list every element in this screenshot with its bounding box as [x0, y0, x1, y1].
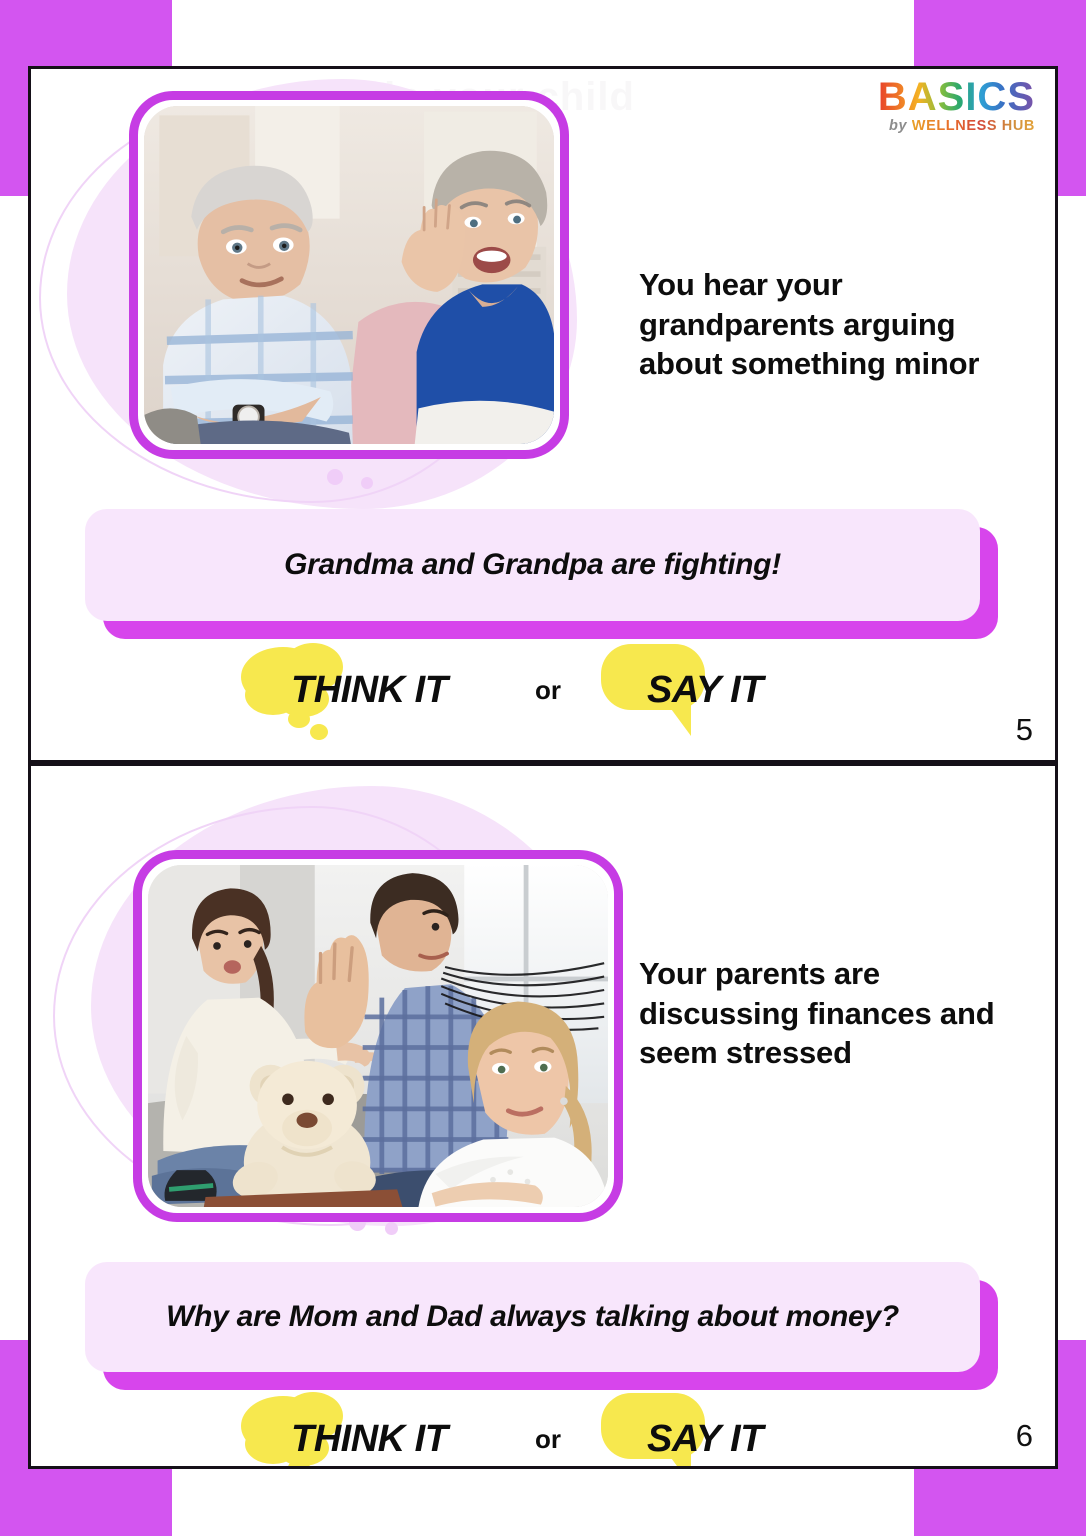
brand-tagline: by WELLNESS HUB	[878, 119, 1035, 134]
brand-logo: BASICS by WELLNESS HUB	[878, 77, 1035, 134]
say-it-option[interactable]: SAY IT	[599, 645, 829, 735]
or-label: or	[535, 1424, 561, 1455]
scenario-prompt: You hear your grandparents arguing about…	[639, 265, 1029, 384]
quote-container: Why are Mom and Dad always talking about…	[85, 1262, 980, 1372]
scenario-prompt: Your parents are discussing finances and…	[639, 954, 1034, 1073]
brand-hub: WELLNESS HUB	[912, 118, 1035, 134]
quote-box: Why are Mom and Dad always talking about…	[85, 1262, 980, 1372]
scenario-photo-frame	[133, 850, 623, 1222]
parents-arguing-with-child-photo	[148, 865, 608, 1207]
decor-dot-2	[361, 477, 373, 489]
quote-text: Why are Mom and Dad always talking about…	[166, 1300, 899, 1334]
choice-row: THINK IT or SAY IT	[239, 1394, 829, 1469]
worksheet-page: Help your child BASICS by WELLNESS HUB	[0, 0, 1086, 1536]
brand-name: BASICS	[878, 77, 1035, 117]
quote-box: Grandma and Grandpa are fighting!	[85, 509, 980, 621]
page-number: 5	[1016, 712, 1033, 748]
think-it-label: THINK IT	[291, 1418, 447, 1461]
scenario-card-6: Your parents are discussing finances and…	[28, 763, 1058, 1469]
quote-text: Grandma and Grandpa are fighting!	[284, 548, 781, 582]
think-it-option[interactable]: THINK IT	[239, 1394, 507, 1469]
say-it-label: SAY IT	[647, 1418, 763, 1461]
decor-dot-2	[385, 1222, 398, 1235]
page-number: 6	[1016, 1418, 1033, 1454]
scenario-card-5: Help your child BASICS by WELLNESS HUB	[28, 66, 1058, 763]
think-it-option[interactable]: THINK IT	[239, 645, 507, 735]
say-it-option[interactable]: SAY IT	[599, 1394, 829, 1469]
choice-row: THINK IT or SAY IT	[239, 645, 829, 735]
scenario-photo-frame	[129, 91, 569, 459]
or-label: or	[535, 675, 561, 706]
decor-dot-1	[327, 469, 343, 485]
think-it-label: THINK IT	[291, 669, 447, 712]
say-it-label: SAY IT	[647, 669, 763, 712]
elderly-couple-arguing-photo	[144, 106, 554, 444]
quote-container: Grandma and Grandpa are fighting!	[85, 509, 980, 621]
brand-by: by	[889, 118, 907, 134]
